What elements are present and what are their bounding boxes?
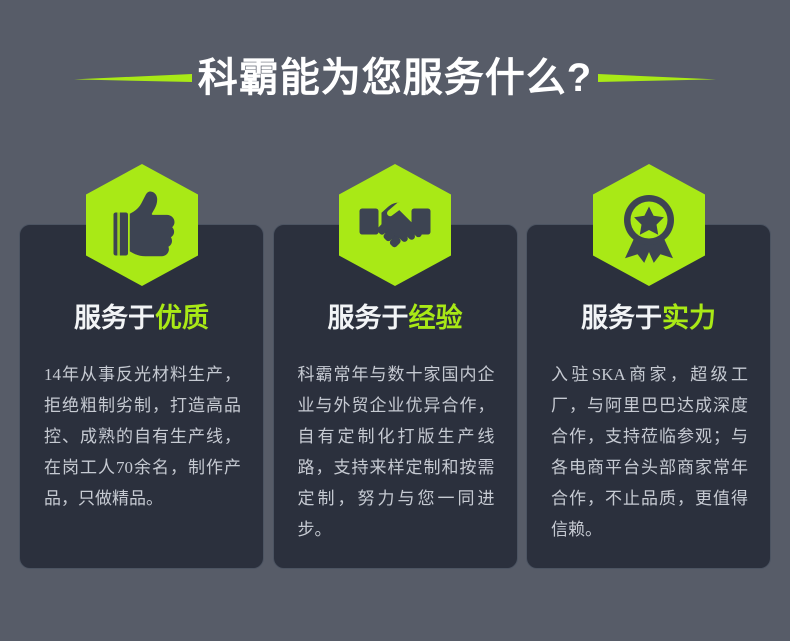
service-card-experience[interactable]: 服务于经验 科霸常年与数十家国内企业与外贸企业优异合作，自有定制化打版生产线路，… bbox=[273, 224, 518, 569]
service-card-quality[interactable]: 服务于优质 14年从事反光材料生产，拒绝粗制劣制，打造高品控、成熟的自有生产线，… bbox=[19, 224, 264, 569]
card-body-text: 科霸常年与数十家国内企业与外贸企业优异合作，自有定制化打版生产线路，支持来样定制… bbox=[298, 360, 495, 546]
card-title: 服务于实力 bbox=[527, 305, 770, 332]
card-title-accent: 优质 bbox=[155, 303, 209, 333]
handshake-icon bbox=[339, 164, 451, 286]
card-title: 服务于优质 bbox=[20, 305, 263, 332]
page-header: 科霸能为您服务什么? bbox=[0, 47, 790, 109]
card-title: 服务于经验 bbox=[274, 305, 517, 332]
decor-rule-left bbox=[74, 71, 192, 85]
card-title-accent: 经验 bbox=[409, 303, 463, 333]
award-medal-icon bbox=[593, 164, 705, 286]
card-body-text: 14年从事反光材料生产，拒绝粗制劣制，打造高品控、成熟的自有生产线，在岗工人70… bbox=[44, 360, 241, 515]
card-title-prefix: 服务于 bbox=[581, 303, 662, 333]
page-title: 科霸能为您服务什么? bbox=[192, 58, 598, 98]
thumbs-up-icon bbox=[86, 164, 198, 286]
card-title-prefix: 服务于 bbox=[328, 303, 409, 333]
service-card-strength[interactable]: 服务于实力 入驻SKA商家，超级工厂，与阿里巴巴达成深度合作，支持莅临参观；与各… bbox=[526, 224, 771, 569]
decor-rule-right bbox=[598, 71, 716, 85]
service-cards: 服务于优质 14年从事反光材料生产，拒绝粗制劣制，打造高品控、成熟的自有生产线，… bbox=[19, 224, 771, 569]
card-title-accent: 实力 bbox=[662, 303, 716, 333]
card-body-text: 入驻SKA商家，超级工厂，与阿里巴巴达成深度合作，支持莅临参观；与各电商平台头部… bbox=[551, 360, 748, 546]
card-title-prefix: 服务于 bbox=[74, 303, 155, 333]
